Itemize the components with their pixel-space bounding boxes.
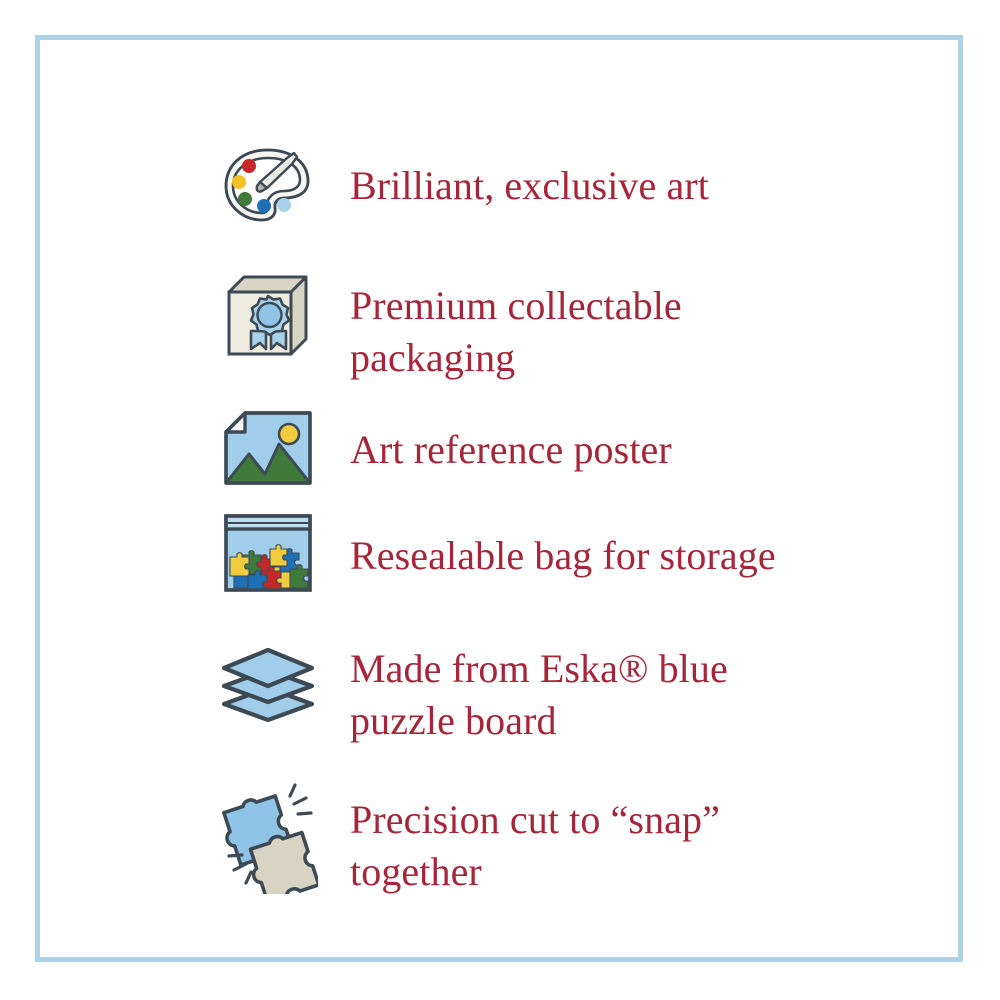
list-item: Precision cut to “snap” together bbox=[218, 770, 918, 900]
list-item-label: Brilliant, exclusive art bbox=[318, 136, 918, 212]
label-line: Art reference poster bbox=[350, 424, 918, 476]
paint-palette-icon bbox=[218, 136, 318, 236]
list-item: Art reference poster bbox=[218, 402, 918, 506]
label-line: Brilliant, exclusive art bbox=[350, 160, 918, 212]
list-item-label: Made from Eska® blue puzzle board bbox=[318, 623, 918, 747]
list-item: Resealable bag for storage bbox=[218, 506, 918, 623]
puzzle-pieces-snap-icon bbox=[218, 770, 318, 894]
resealable-bag-icon bbox=[218, 506, 318, 600]
list-item-label: Resealable bag for storage bbox=[318, 506, 918, 582]
label-line: Resealable bag for storage bbox=[350, 530, 918, 582]
layered-board-icon bbox=[218, 623, 318, 727]
poster-image-icon bbox=[218, 402, 318, 494]
decorative-frame: Brilliant, exclusive art bbox=[35, 35, 963, 962]
list-item-label: Precision cut to “snap” together bbox=[318, 770, 918, 898]
list-item: Made from Eska® blue puzzle board bbox=[218, 623, 918, 770]
label-line: Precision cut to “snap” bbox=[350, 794, 918, 846]
label-line: Premium collectable bbox=[350, 280, 918, 332]
list-item: Premium collectable packaging bbox=[218, 262, 918, 402]
list-item: Brilliant, exclusive art bbox=[218, 136, 918, 262]
list-item-label: Premium collectable packaging bbox=[318, 262, 918, 384]
feature-list-graphic: Brilliant, exclusive art bbox=[0, 0, 1000, 1000]
list-item-label: Art reference poster bbox=[318, 402, 918, 476]
label-line: together bbox=[350, 846, 918, 898]
label-line: puzzle board bbox=[350, 695, 918, 747]
label-line: packaging bbox=[350, 332, 918, 384]
label-line: Made from Eska® blue bbox=[350, 643, 918, 695]
gift-box-award-icon bbox=[218, 262, 318, 366]
feature-list: Brilliant, exclusive art bbox=[218, 136, 918, 900]
